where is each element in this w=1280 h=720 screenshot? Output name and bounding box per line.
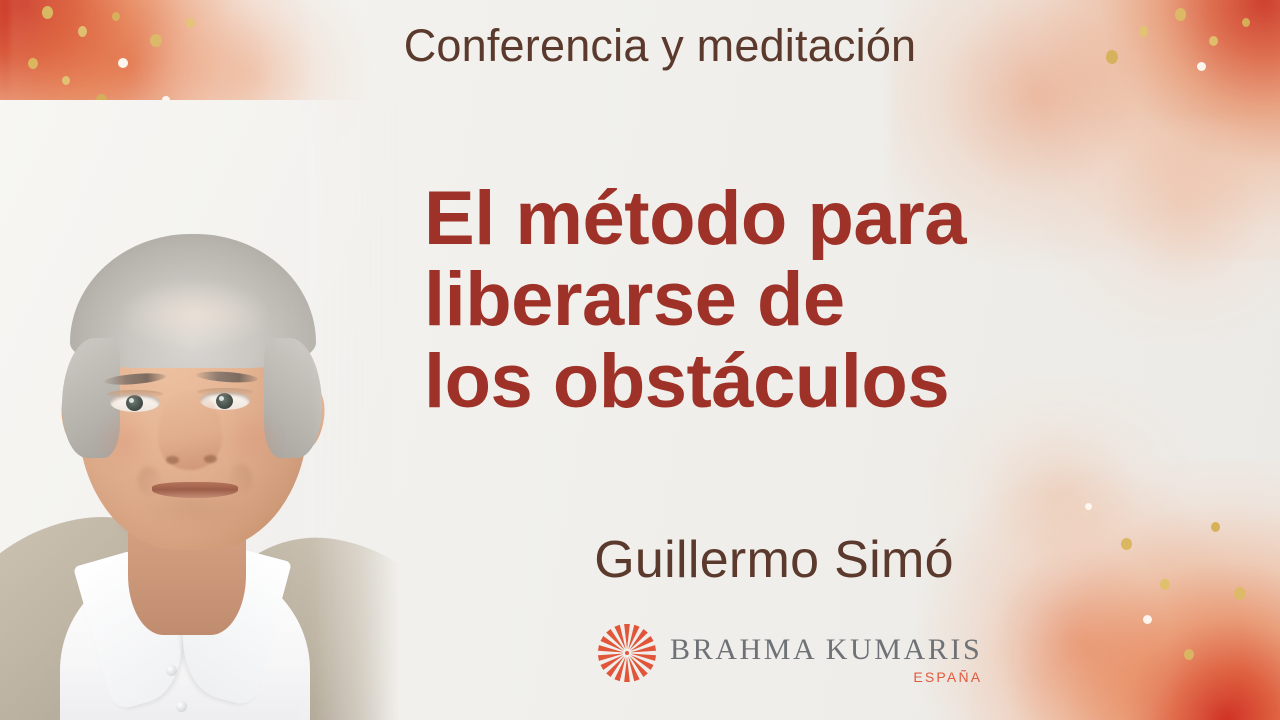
sunburst-icon: [596, 622, 658, 684]
event-type-kicker: Conferencia y meditación: [0, 20, 1280, 72]
logo-name-text: BRAHMA KUMARIS: [670, 635, 982, 665]
speaker-portrait: [0, 100, 400, 720]
title-line-1: El método para: [424, 178, 1124, 259]
gold-speck: [1184, 649, 1194, 660]
nostril-right: [204, 455, 217, 463]
title-line-3: los obstáculos: [424, 341, 1124, 422]
gold-speck: [1234, 587, 1246, 600]
logo-ray: [624, 657, 630, 682]
shirt-button: [166, 665, 177, 676]
chin-shadow: [140, 494, 250, 530]
event-type-label: Conferencia y meditación: [364, 20, 917, 72]
speaker-name: Guillermo Simó: [424, 530, 1124, 590]
logo-ray: [624, 624, 630, 649]
gold-speck: [62, 76, 70, 85]
gold-speck: [1211, 522, 1220, 532]
nostril-left: [166, 456, 179, 464]
white-speck: [1085, 503, 1092, 510]
title-line-2: liberarse de: [424, 259, 1124, 340]
logo-center-dot: [625, 651, 629, 655]
page-title: El método para liberarse de los obstácul…: [424, 178, 1124, 422]
forehead-highlight: [120, 280, 270, 350]
logo-wordmark: BRAHMA KUMARIS ESPAÑA: [670, 622, 982, 684]
shirt-button: [176, 701, 187, 712]
watercolor-splash-bottom-right: [970, 460, 1280, 720]
white-speck: [1143, 615, 1152, 624]
eyelid-left: [107, 390, 163, 398]
gold-speck: [42, 6, 53, 19]
logo-country-text: ESPAÑA: [670, 670, 982, 684]
brahma-kumaris-logo: BRAHMA KUMARIS ESPAÑA: [596, 622, 982, 684]
cheek-left: [96, 412, 154, 470]
conference-poster: Conferencia y meditación El método para …: [0, 0, 1280, 720]
gold-speck: [1160, 579, 1170, 590]
cheek-right: [224, 410, 282, 468]
